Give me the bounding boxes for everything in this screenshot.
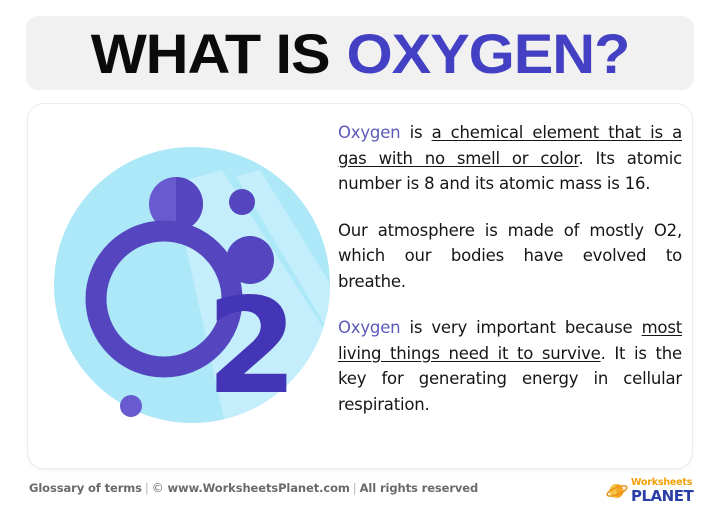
- paragraph-3-before: is very important because: [400, 318, 641, 337]
- subscript-two: 2: [206, 270, 298, 424]
- illustration-panel: 2: [38, 110, 338, 462]
- copyright-icon: ©: [152, 481, 164, 495]
- logo-wordmark: Worksheets PLANET: [631, 478, 693, 504]
- page-title: WHAT IS OXYGEN?: [6, 16, 714, 90]
- footer-glossary-label: Glossary of terms: [29, 481, 142, 495]
- bubble-small-bottom-left: [120, 395, 142, 417]
- bubble-small-top-right: [229, 189, 255, 215]
- footer-rights-label: All rights reserved: [360, 481, 479, 495]
- keyword-oxygen-1: Oxygen: [338, 123, 400, 142]
- definition-text-column: Oxygen is a chemical element that is a g…: [338, 120, 686, 456]
- footer-bar: Glossary of terms|© www.WorksheetsPlanet…: [0, 472, 720, 509]
- page-title-black-part: WHAT IS: [91, 21, 330, 86]
- footer-credits: Glossary of terms|© www.WorksheetsPlanet…: [29, 481, 478, 495]
- footer-separator-2: |: [350, 481, 360, 495]
- paragraph-1: Oxygen is a chemical element that is a g…: [338, 120, 682, 197]
- worksheets-planet-logo[interactable]: Worksheets PLANET: [606, 477, 698, 505]
- paragraph-1-before: is: [400, 123, 431, 142]
- paragraph-2: Our atmosphere is made of mostly O2, whi…: [338, 218, 682, 295]
- oxygen-o2-icon: 2: [54, 124, 330, 446]
- logo-bottom-word: PLANET: [631, 489, 693, 504]
- footer-separator-1: |: [142, 481, 152, 495]
- footer-website-link[interactable]: www.WorksheetsPlanet.com: [168, 481, 350, 495]
- planet-icon: [606, 480, 628, 502]
- content-card: 2 Oxygen is a chemical element that is a…: [28, 104, 692, 468]
- title-banner: WHAT IS OXYGEN?: [26, 16, 694, 90]
- keyword-oxygen-2: Oxygen: [338, 318, 400, 337]
- page-title-blue-part: OXYGEN?: [346, 21, 629, 86]
- paragraph-3: Oxygen is very important because most li…: [338, 315, 682, 417]
